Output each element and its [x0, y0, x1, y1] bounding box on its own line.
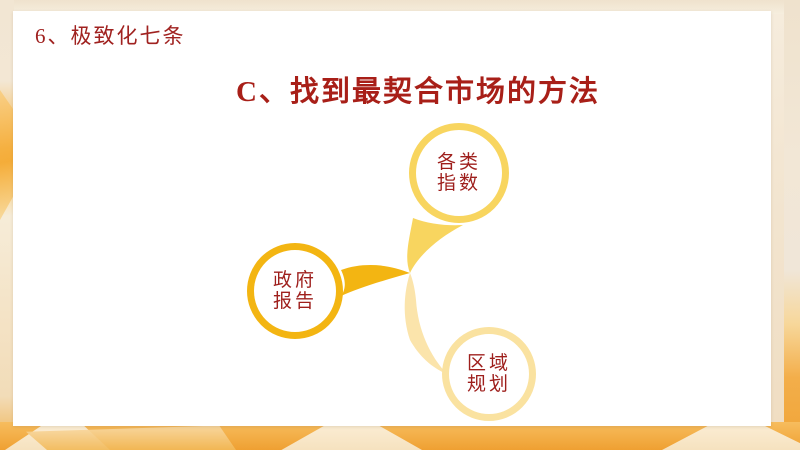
bubble-government-report[interactable]: 政府 报告 — [247, 243, 343, 339]
bubble-index-line1: 各类 — [437, 152, 481, 173]
decorative-left-strip — [0, 0, 14, 450]
presentation-slide: 6、极致化七条 C、找到最契合市场的方法 各类 指数 政府 报告 区域 规划 — [0, 0, 800, 450]
bubble-government-report-line1: 政府 — [273, 270, 317, 291]
decorative-right-strip — [784, 0, 800, 450]
bubble-government-report-line2: 报告 — [273, 291, 317, 312]
bubble-regional-plan[interactable]: 区域 规划 — [442, 327, 536, 421]
bubble-index-line2: 指数 — [437, 173, 481, 194]
bubble-index[interactable]: 各类 指数 — [409, 123, 509, 223]
bubble-regional-plan-line1: 区域 — [467, 353, 511, 374]
page-title: C、找到最契合市场的方法 — [236, 68, 600, 110]
section-label: 6、极致化七条 — [35, 20, 186, 50]
bubble-regional-plan-line2: 规划 — [467, 374, 511, 395]
